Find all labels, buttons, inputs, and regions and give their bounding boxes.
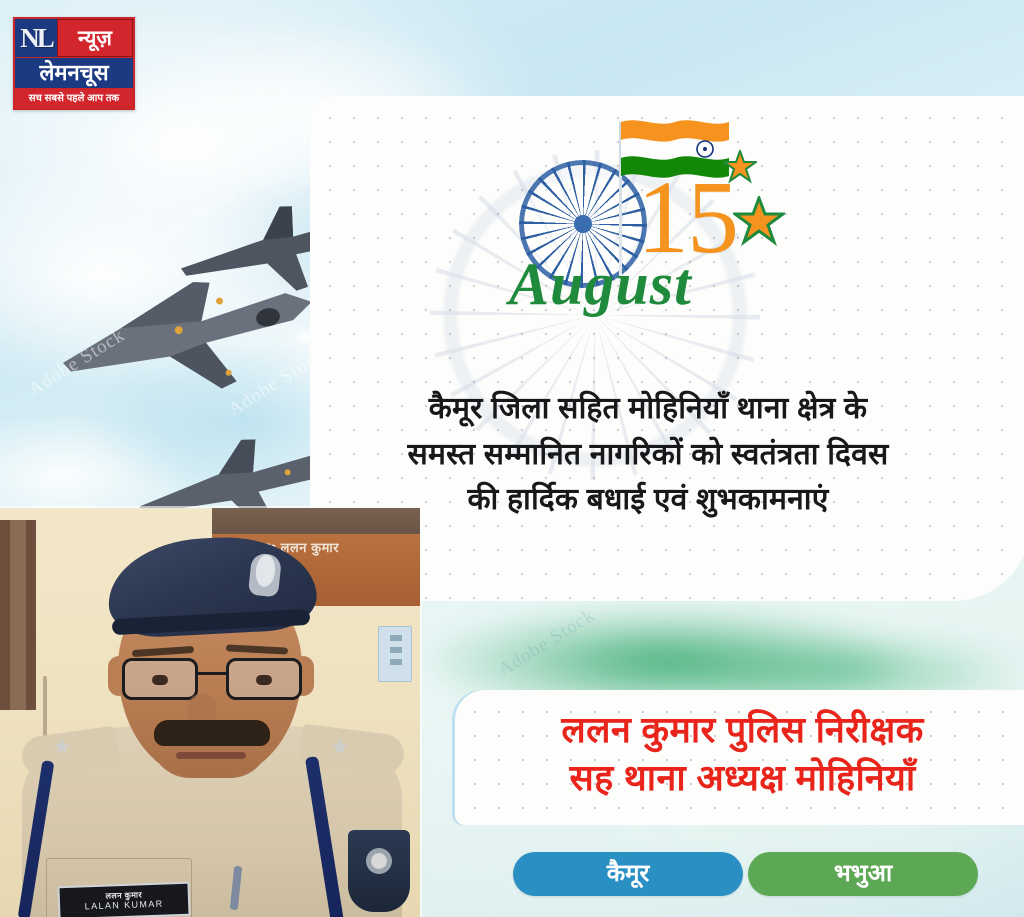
greeting-message: कैमूर जिला सहित मोहिनियाँ थाना क्षेत्र क… xyxy=(318,386,978,523)
officer-photo: १४| पु॰ न॰ ललन कुमार ★ ★ ललन कुमार LALAN… xyxy=(0,508,420,917)
star-decoration-large-icon xyxy=(733,196,785,253)
name-badge-english: LALAN KUMAR xyxy=(85,900,164,912)
officer-name-text: ललन कुमार पुलिस निरीक्षक सह थाना अध्यक्ष… xyxy=(460,706,1024,801)
photo-eyeglasses xyxy=(122,658,304,702)
officer-name-line-2: सह थाना अध्यक्ष मोहिनियाँ xyxy=(460,754,1024,802)
logo-brand-label: लेमनचूस xyxy=(15,57,133,89)
photo-mouth xyxy=(176,752,246,759)
logo-tagline: सच सबसे पहले आप तक xyxy=(15,89,133,108)
photo-name-badge: ललन कुमार LALAN KUMAR xyxy=(57,882,190,917)
greeting-line-2: समस्त सम्मानित नागरिकों को स्वतंत्रता दि… xyxy=(318,432,978,478)
poster-canvas: Adobe Stock Adobe Stock Adobe Stock Adob… xyxy=(0,0,1024,917)
star-decoration-small-icon xyxy=(723,150,757,189)
photo-door-inner xyxy=(10,520,26,710)
location-button-kaimur[interactable]: कैमूर xyxy=(513,852,743,896)
officer-name-line-1: ललन कुमार पुलिस निरीक्षक xyxy=(460,706,1024,754)
fifteen-august-graphic: 15 August xyxy=(505,108,805,343)
month-name: August xyxy=(509,254,692,314)
photo-bihar-police-patch xyxy=(348,830,410,912)
logo-mark-text: NL xyxy=(20,25,52,52)
location-button-bhabua[interactable]: भभुआ xyxy=(748,852,978,896)
photo-switchboard xyxy=(378,626,412,682)
logo-mark-icon: NL xyxy=(15,19,57,57)
logo-row-primary: NL न्यूज़ xyxy=(15,19,133,57)
greeting-line-1: कैमूर जिला सहित मोहिनियाँ थाना क्षेत्र क… xyxy=(318,386,978,432)
photo-moustache xyxy=(154,720,270,746)
channel-logo[interactable]: NL न्यूज़ लेमनचूस सच सबसे पहले आप तक xyxy=(13,17,135,110)
photo-cap-badge-icon xyxy=(248,553,282,598)
logo-news-label: न्यूज़ xyxy=(57,19,133,57)
